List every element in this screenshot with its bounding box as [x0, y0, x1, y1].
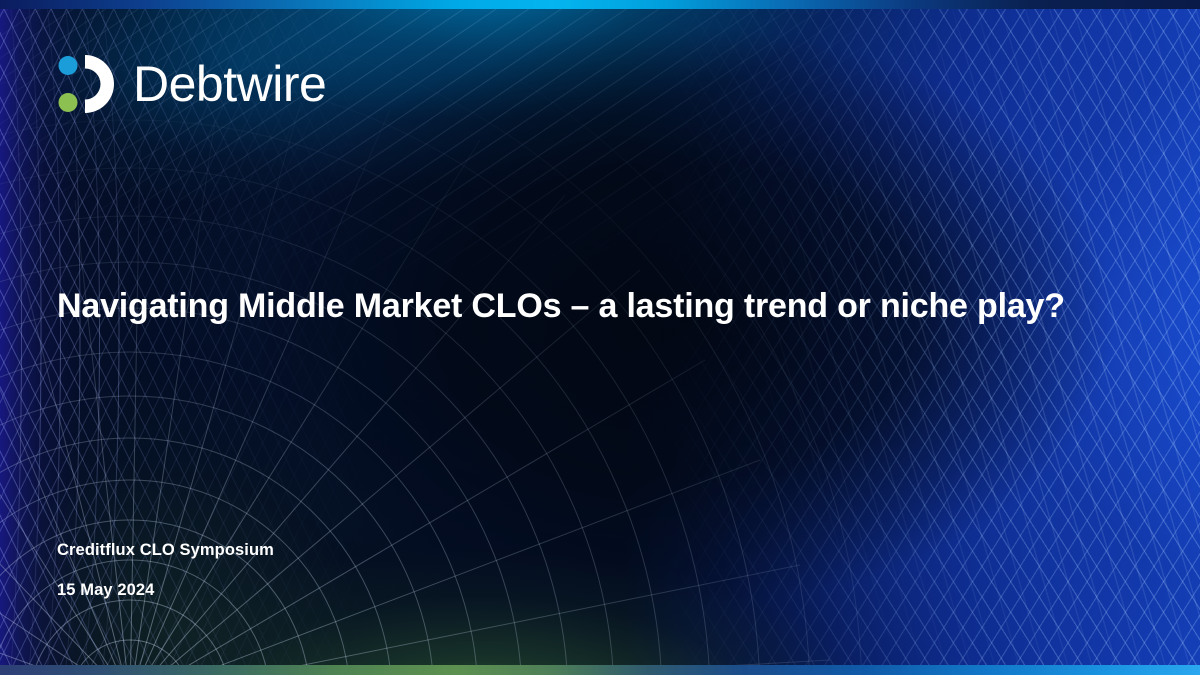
- debtwire-logo: Debtwire: [57, 52, 326, 116]
- title-slide: Debtwire Navigating Middle Market CLOs –…: [0, 0, 1200, 675]
- logo-blue-dot-icon: [59, 56, 78, 75]
- logo-arc-icon: [85, 55, 114, 113]
- event-name: Creditflux CLO Symposium: [57, 541, 274, 560]
- debtwire-logo-mark-icon: [57, 52, 121, 116]
- debtwire-wordmark: Debtwire: [133, 59, 326, 109]
- slide-content: Debtwire Navigating Middle Market CLOs –…: [0, 0, 1200, 675]
- event-date: 15 May 2024: [57, 581, 154, 600]
- logo-green-dot-icon: [59, 93, 78, 112]
- slide-title: Navigating Middle Market CLOs – a lastin…: [57, 286, 1147, 327]
